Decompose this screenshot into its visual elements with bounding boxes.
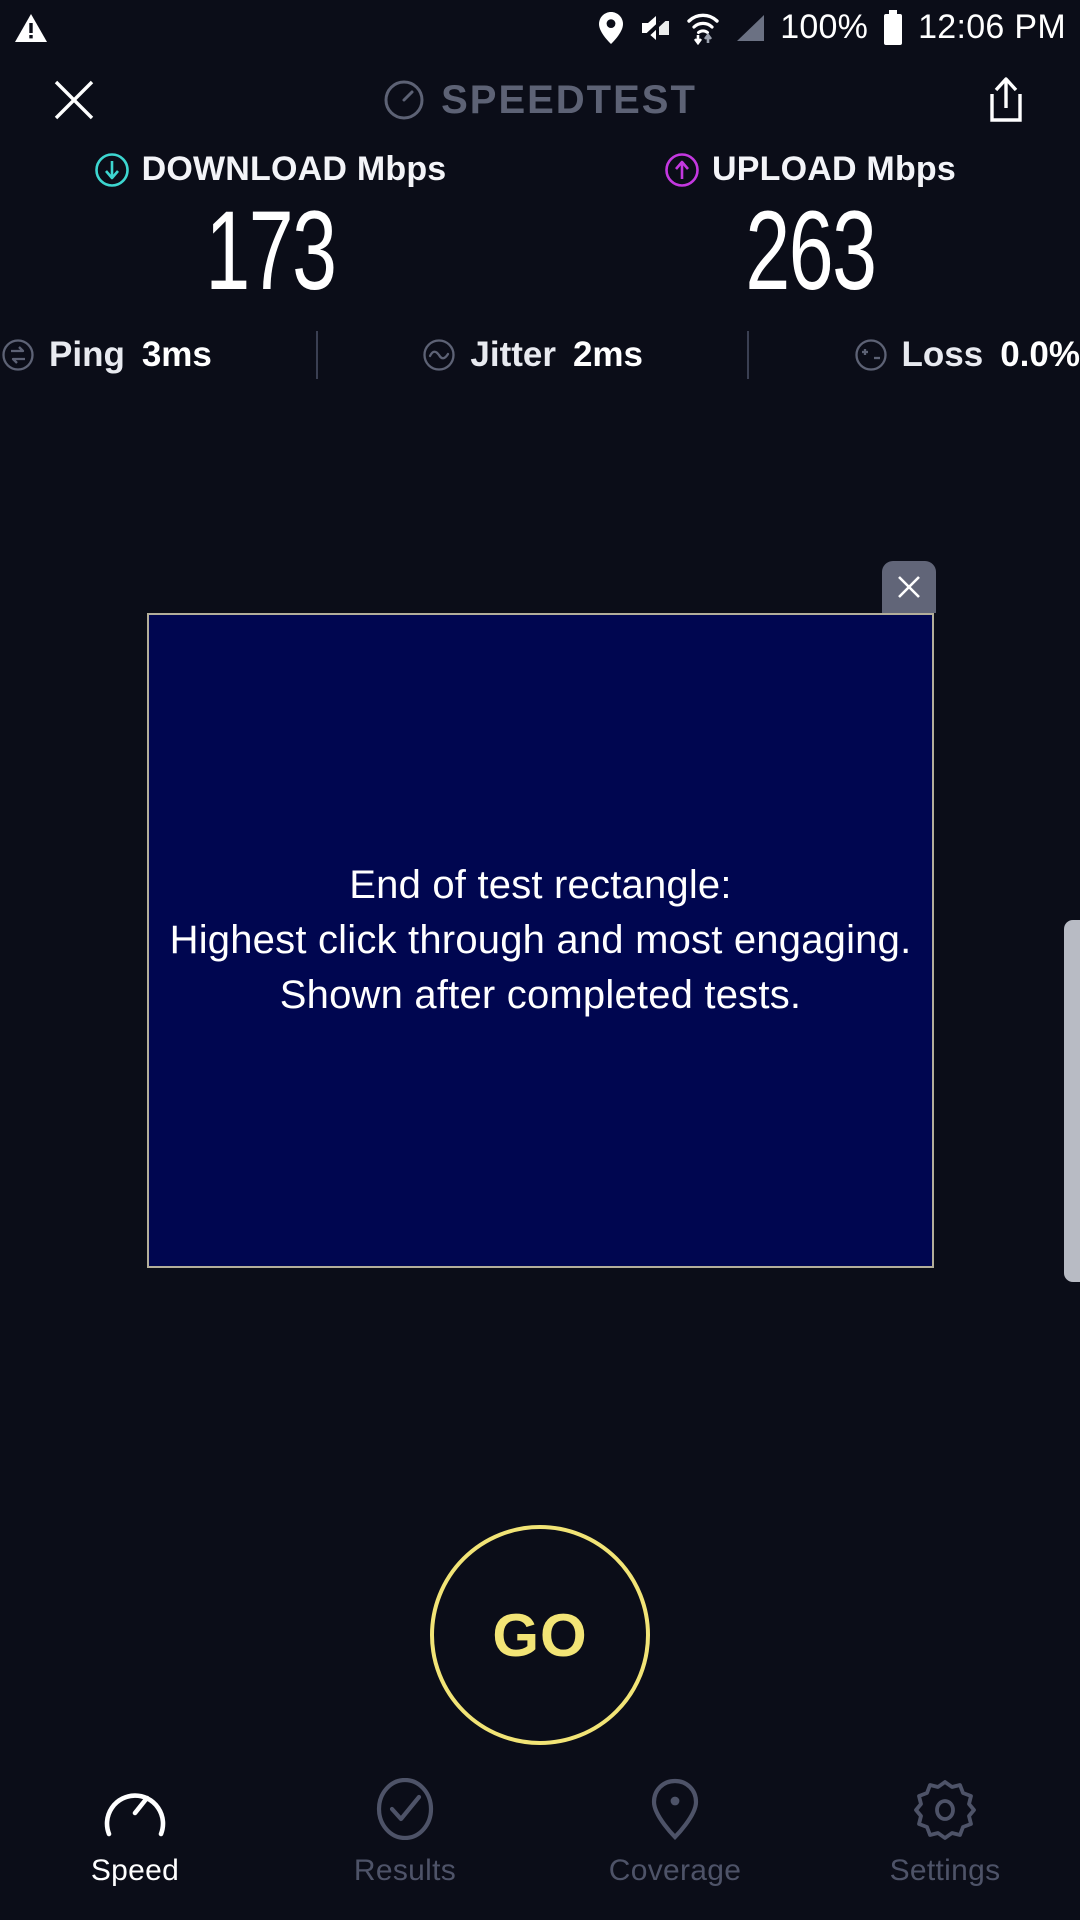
nav-label-coverage: Coverage [609,1854,741,1888]
upload-value: 263 [745,195,875,307]
download-value: 173 [205,195,335,307]
download-upload-row: DOWNLOAD Mbps 173 UP [0,150,1080,307]
close-icon[interactable] [44,70,104,130]
go-button[interactable]: GO [430,1525,650,1745]
stat-divider-2 [747,331,749,379]
cellular-signal-icon [734,13,766,43]
app-title-text: SPEEDTEST [441,78,697,123]
nav-label-results: Results [354,1854,456,1888]
upload-header: UPLOAD Mbps [664,150,956,189]
vertical-scrollbar-thumb[interactable] [1064,920,1080,1282]
download-metric: DOWNLOAD Mbps 173 [0,150,540,307]
go-button-label: GO [492,1601,587,1670]
upload-metric: UPLOAD Mbps 263 [540,150,1080,307]
app-header: SPEEDTEST [0,55,1080,145]
ping-stat: Ping 3ms [0,335,212,375]
loss-value: 0.0% [1000,335,1080,375]
download-header: DOWNLOAD Mbps [94,150,447,189]
nav-label-speed: Speed [91,1854,179,1888]
battery-percent-label: 100% [780,8,868,47]
loss-stat: Loss 0.0% [853,335,1080,375]
ping-jitter-loss-row: Ping 3ms Jitter 2ms [0,331,1080,379]
battery-full-icon [882,10,904,46]
stat-divider-1 [316,331,318,379]
warning-triangle-icon [14,12,48,44]
ping-value: 3ms [142,335,212,375]
loss-label: Loss [902,335,984,375]
ping-icon [0,337,36,373]
test-results: DOWNLOAD Mbps 173 UP [0,150,1080,379]
jitter-label: Jitter [470,335,556,375]
ping-label: Ping [49,335,125,375]
speedometer-icon [102,1778,168,1840]
ad-line-3: Shown after completed tests. [170,968,912,1023]
nav-item-coverage[interactable]: Coverage [540,1778,810,1888]
nav-item-settings[interactable]: Settings [810,1778,1080,1888]
wifi-transfer-icon [686,11,720,45]
upload-label: UPLOAD Mbps [712,150,956,189]
ad-text: End of test rectangle: Highest click thr… [170,858,912,1024]
jitter-value: 2ms [573,335,643,375]
speedtest-gauge-icon [383,79,425,121]
nav-label-settings: Settings [890,1854,1001,1888]
status-bar-right: 100% 12:06 PM [598,8,1066,47]
location-pin-icon [598,11,624,45]
download-label: DOWNLOAD Mbps [142,150,447,189]
loss-icon [853,337,889,373]
jitter-stat: Jitter 2ms [421,335,643,375]
status-bar-left [14,12,48,44]
advertisement-banner[interactable]: End of test rectangle: Highest click thr… [147,613,934,1268]
nav-item-speed[interactable]: Speed [0,1778,270,1888]
gear-icon [912,1778,978,1840]
volume-muted-icon [638,12,672,44]
ad-close-button[interactable] [882,561,936,613]
check-circle-icon [372,1778,438,1840]
download-arrow-icon [94,152,130,188]
speedtest-app-screen: 100% 12:06 PM SPEE [0,0,1080,1920]
bottom-navigation: Speed Results Coverage [0,1770,1080,1920]
share-upload-icon[interactable] [976,70,1036,130]
app-title: SPEEDTEST [383,78,697,123]
upload-arrow-icon [664,152,700,188]
ad-line-2: Highest click through and most engaging. [170,913,912,968]
jitter-icon [421,337,457,373]
location-pin-icon [642,1778,708,1840]
status-bar-clock: 12:06 PM [918,8,1066,47]
ad-line-1: End of test rectangle: [170,858,912,913]
status-bar: 100% 12:06 PM [0,0,1080,55]
nav-item-results[interactable]: Results [270,1778,540,1888]
